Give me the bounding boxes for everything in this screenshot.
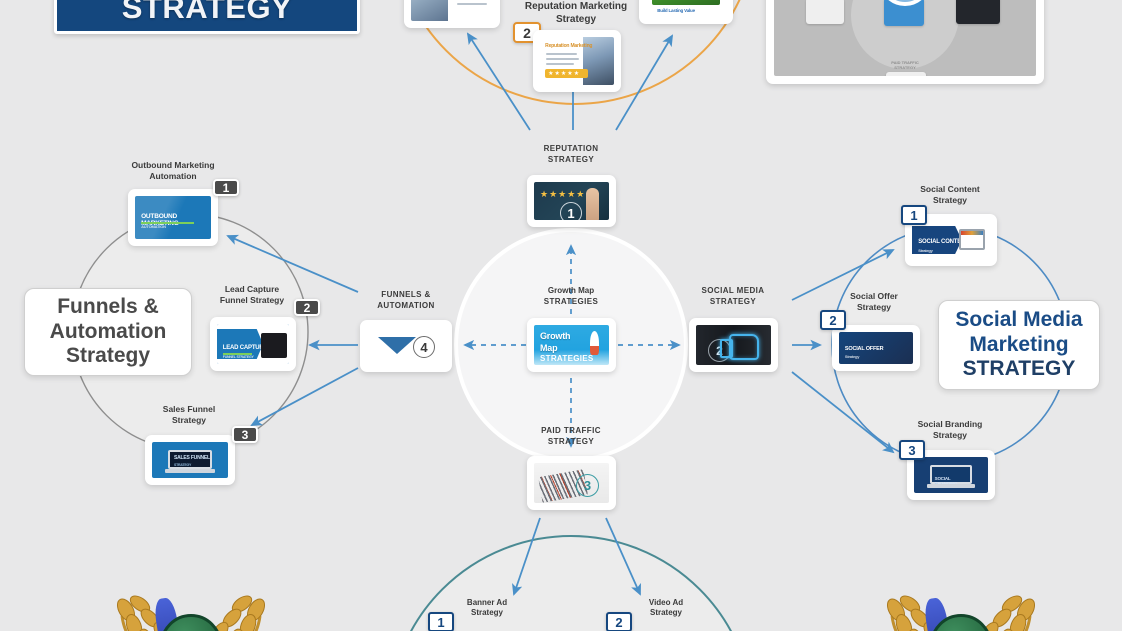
laptop-icon: SALES FUNNEL STRATEGY [168, 450, 212, 469]
caption-sales-funnel: Sales Funnel Strategy [129, 404, 249, 426]
hub-label-paid-traffic: PAID TRAFFIC STRATEGY [511, 426, 631, 448]
growth-map-wordmark-2: Map [540, 343, 557, 353]
social-offer-thumb-title: SOCIAL OFFER [845, 346, 883, 352]
review-stars-bar: ★★★★★ [545, 69, 588, 78]
mini-node-social [956, 0, 1000, 24]
badge-lead-capture: 2 [294, 299, 320, 316]
star-rating-icon: ★★★★★ [540, 189, 585, 200]
social-content-thumb-sub: Strategy [918, 248, 932, 253]
thumbs-up-icon [729, 334, 759, 360]
growth-map-wordmark: Growth [540, 331, 570, 341]
badge-video-ad: 2 [606, 612, 632, 631]
social-plate-line-2: Marketing [955, 333, 1082, 357]
sales-funnel-thumb-sub: STRATEGY [174, 463, 191, 467]
monitor-preview-icon [959, 229, 986, 250]
office-photo [411, 0, 448, 21]
page-title-banner: MARKETING STRATEGY [54, 0, 360, 34]
social-offer-thumb: SOCIAL OFFER Strategy [839, 332, 913, 364]
banner-line-2: STRATEGY [122, 0, 293, 25]
social-thumbs-up-thumb: 2 [696, 325, 771, 365]
lead-capture-thumb: LEAD CAPTURE FUNNEL STRATEGY [217, 324, 289, 364]
hub-label-social-media: SOCIAL MEDIA STRATEGY [673, 286, 793, 308]
card-social-offer[interactable]: SOCIAL OFFER Strategy [832, 325, 920, 371]
caption-social-content: Social Content Strategy [890, 184, 1010, 206]
card-reputation-office[interactable] [404, 0, 500, 28]
hub-number-paid-traffic: 3 [576, 474, 599, 497]
hub-node-reputation[interactable]: ★★★★★ 1 [527, 175, 616, 227]
social-branding-thumb-sub: Strategy [935, 483, 947, 487]
social-plate-line-3: STRATEGY [955, 357, 1082, 381]
social-content-thumb: SOCIAL CONTENT Strategy [912, 221, 990, 259]
branding-laptop-icon: SOCIAL BRANDING Strategy [930, 465, 973, 484]
social-branding-thumb: SOCIAL BRANDING Strategy [914, 457, 988, 493]
hub-label-funnels: FUNNELS & AUTOMATION [346, 290, 466, 312]
social-media-strategy-plate: Social Media Marketing STRATEGY [938, 300, 1100, 390]
badge-outbound-marketing: 1 [213, 179, 239, 196]
hub-node-funnels[interactable]: 4 [360, 320, 452, 372]
office-person-thumb [411, 0, 493, 21]
review-stars-person-thumb: Reputation Marketing ★★★★★ [540, 37, 614, 85]
outbound-thumb-sub: AUTOMATION [141, 224, 166, 229]
hub-node-growth-map[interactable]: Growth Map STRATEGIES [527, 318, 616, 372]
lead-capture-thumb-sub: FUNNEL STRATEGY [223, 355, 254, 359]
video-thumbnail[interactable]: FUNNELS &AUTOMATION Growth MapSTRATEGIES… [774, 0, 1036, 76]
growth-map-wordmark-3: STRATEGIES [540, 354, 594, 363]
funnels-plate-line-3: Strategy [50, 344, 167, 368]
mini-node-traffic [886, 72, 926, 76]
growth-map-rocket-thumb: Growth Map STRATEGIES [534, 325, 609, 365]
badge-social-branding: 3 [899, 440, 925, 460]
reputation-thumb-title: Reputation Marketing [545, 43, 592, 49]
sales-funnel-thumb: SALES FUNNEL STRATEGY [152, 442, 228, 478]
diagram-canvas: MARKETING STRATEGY FUNNELS &AUTOMATION G… [0, 0, 1122, 631]
funnel-icon [378, 337, 416, 354]
badge-banner-ad: 1 [428, 612, 454, 631]
video-preview-card[interactable]: FUNNELS &AUTOMATION Growth MapSTRATEGIES… [766, 0, 1044, 84]
badge-social-content: 1 [901, 205, 927, 225]
mini-label-traffic: PAID TRAFFICSTRATEGY [882, 60, 928, 70]
mini-node-funnels [806, 0, 844, 24]
green-field-thumb: Build Lasting Value [646, 0, 726, 17]
hub-label-growth-map: Growth Map STRATEGIES [511, 286, 631, 308]
badge-social-offer: 2 [820, 310, 846, 330]
hub-node-social-media[interactable]: 2 [689, 318, 778, 372]
card-reputation-value[interactable]: Build Lasting Value [639, 0, 733, 24]
laurel-wreath-medal-right [866, 580, 1056, 631]
social-offer-thumb-sub: Strategy [845, 354, 859, 359]
pointing-hand-icon [586, 188, 599, 220]
badge-sales-funnel: 3 [232, 426, 258, 443]
card-sales-funnel[interactable]: SALES FUNNEL STRATEGY [145, 435, 235, 485]
social-branding-thumb-title: SOCIAL BRANDING [935, 476, 971, 486]
social-plate-line-1: Social Media [955, 308, 1082, 332]
hub-node-paid-traffic[interactable]: 3 [527, 456, 616, 510]
card-outbound-marketing[interactable]: OUTBOUND MARKETING AUTOMATION [128, 189, 218, 246]
reputation-value-title: Build Lasting Value [657, 8, 695, 13]
laurel-wreath-medal-left [96, 580, 286, 631]
card-reputation-marketing[interactable]: Reputation Marketing ★★★★★ [533, 30, 621, 92]
hub-number-reputation: 1 [560, 202, 582, 220]
rocket-icon [590, 331, 599, 355]
funnels-strategy-plate: Funnels & Automation Strategy [24, 288, 192, 376]
hub-number-funnels: 4 [413, 336, 435, 358]
reputation-stars-thumb: ★★★★★ 1 [534, 182, 609, 220]
funnel-icon-thumb: 4 [367, 327, 445, 365]
funnels-plate-line-2: Automation [50, 320, 167, 344]
caption-social-branding: Social Branding Strategy [890, 419, 1010, 441]
hub-label-reputation: REPUTATION STRATEGY [511, 144, 631, 166]
card-lead-capture[interactable]: LEAD CAPTURE FUNNEL STRATEGY [210, 317, 296, 371]
sales-funnel-thumb-title: SALES FUNNEL [174, 455, 210, 461]
paid-traffic-crowd-thumb: 3 [534, 463, 609, 503]
outbound-marketing-thumb: OUTBOUND MARKETING AUTOMATION [135, 196, 211, 239]
funnels-plate-line-1: Funnels & [50, 295, 167, 319]
